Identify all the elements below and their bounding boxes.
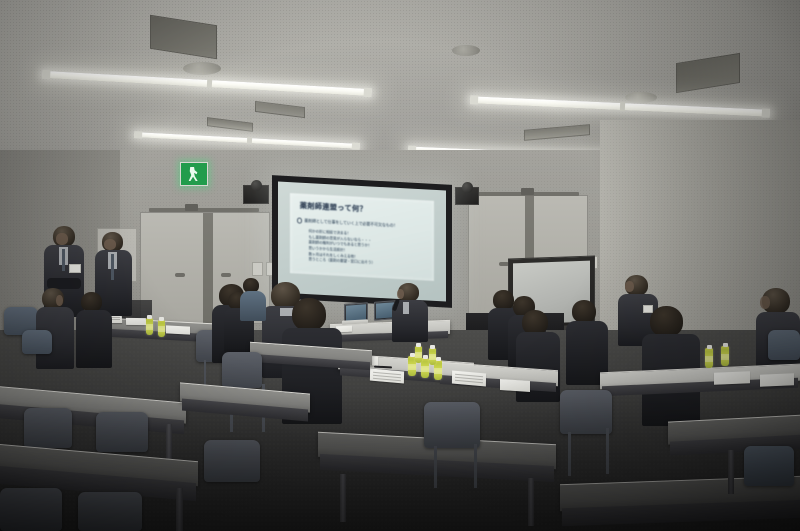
- slide-bullet-list: 何かの折に相談で決まる！ もし薬剤師の意見が入らないなら・・・ 薬剤師の権利がい…: [309, 229, 427, 269]
- slide-lead-line: 薬剤師として仕事をしていく上で必要不可欠なもの！: [297, 218, 398, 229]
- stacking-chair[interactable]: [222, 352, 262, 388]
- speaker-dome-icon: [251, 180, 262, 191]
- ceiling-vent: [524, 124, 590, 141]
- attendee-head: [493, 290, 514, 310]
- attendee-head: [650, 306, 683, 337]
- smoke-detector: [452, 45, 480, 56]
- attendee-face: [56, 233, 68, 245]
- attendee-head: [81, 292, 102, 312]
- chair-leg: [606, 428, 609, 474]
- fluorescent-strip-light: [42, 71, 372, 96]
- attendee-face: [56, 295, 63, 306]
- stacking-chair[interactable]: [22, 330, 52, 354]
- green-tea-bottle[interactable]: [721, 346, 729, 366]
- stacking-chair[interactable]: [0, 488, 62, 531]
- green-tea-bottle[interactable]: [705, 348, 713, 368]
- ceiling-vent: [150, 15, 217, 60]
- wall-speaker: [455, 187, 479, 205]
- door-handle[interactable]: [221, 273, 231, 277]
- ceiling-vent: [676, 53, 740, 93]
- attendee-torso: [240, 291, 266, 321]
- emergency-exit-sign: [180, 162, 208, 186]
- door-closer-box: [185, 204, 198, 211]
- attendee-face: [760, 296, 770, 309]
- printed-handout[interactable]: [166, 325, 190, 334]
- table-leg: [528, 478, 534, 526]
- name-badge: [69, 264, 81, 273]
- speaker-dome-icon: [462, 182, 473, 193]
- attendee-face: [104, 239, 116, 250]
- slide-lead-text: 薬剤師として仕事をしていく上で必要不可欠なもの！: [304, 218, 397, 228]
- door-handle[interactable]: [175, 273, 185, 277]
- presenter-shirt: [403, 302, 409, 314]
- door-closer-arm: [149, 208, 259, 212]
- fluorescent-strip-light: [134, 132, 360, 149]
- stacking-chair[interactable]: [744, 446, 794, 486]
- green-tea-bottle[interactable]: [146, 318, 153, 335]
- fluorescent-strip-light: [470, 96, 770, 117]
- stacking-chair[interactable]: [78, 492, 142, 531]
- ceiling-vent: [207, 117, 253, 132]
- green-tea-bottle[interactable]: [415, 346, 422, 363]
- presentation-slide: 薬剤師連盟って何？ 薬剤師として仕事をしていく上で必要不可欠なもの！ 何かの折に…: [290, 193, 434, 281]
- smoke-detector: [625, 92, 657, 103]
- green-tea-bottle[interactable]: [158, 320, 165, 337]
- green-tea-bottle[interactable]: [429, 348, 436, 365]
- table-leg: [340, 474, 346, 522]
- chair-leg: [568, 432, 571, 476]
- bullet-circle-icon: [297, 218, 302, 224]
- slide-title: 薬剤師連盟って何？: [300, 201, 367, 215]
- projection-screen: 薬剤師連盟って何？ 薬剤師として仕事をしていく上で必要不可欠なもの！ 何かの折に…: [272, 175, 452, 308]
- door-closer-box: [521, 188, 534, 195]
- ceiling-vent: [255, 101, 305, 118]
- printed-handout[interactable]: [500, 379, 530, 392]
- attendee-head: [292, 298, 326, 331]
- smoke-detector: [183, 62, 221, 75]
- chair-leg: [434, 446, 437, 488]
- stacking-chair[interactable]: [204, 440, 260, 482]
- chair-leg: [474, 444, 477, 488]
- name-badge: [643, 305, 653, 313]
- necktie: [62, 249, 65, 271]
- presenter-face: [397, 289, 404, 299]
- wall-speaker: [243, 185, 269, 204]
- stacking-chair[interactable]: [424, 402, 480, 448]
- stacking-chair[interactable]: [560, 390, 612, 434]
- table-leg: [176, 488, 183, 531]
- green-tea-bottle[interactable]: [421, 358, 429, 378]
- door-gap: [203, 213, 213, 323]
- attendee-torso: [76, 310, 112, 368]
- wall-outlet[interactable]: [252, 262, 263, 276]
- printed-handout[interactable]: [126, 318, 146, 325]
- seminar-room-photo: 薬剤師連盟って何？ 薬剤師として仕事をしていく上で必要不可欠なもの！ 何かの折に…: [0, 0, 800, 531]
- running-man-icon: [188, 167, 199, 181]
- printed-handout[interactable]: [714, 371, 750, 385]
- necktie: [111, 254, 114, 280]
- stacking-chair[interactable]: [24, 408, 72, 448]
- printed-handout[interactable]: [760, 373, 794, 386]
- attendee-head: [572, 300, 596, 323]
- attendee-face: [625, 281, 634, 292]
- table-leg: [728, 450, 734, 494]
- stacking-chair[interactable]: [96, 412, 148, 452]
- screen-surface: 薬剤師連盟って何？ 薬剤師として仕事をしていく上で必要不可欠なもの！ 何かの折に…: [278, 181, 446, 301]
- stacking-chair[interactable]: [768, 330, 800, 360]
